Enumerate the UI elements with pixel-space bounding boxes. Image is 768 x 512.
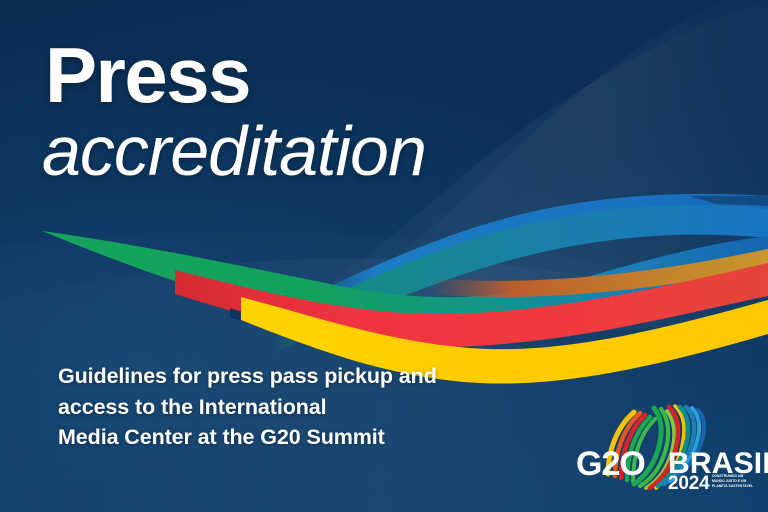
logo-motto-line-3: PLANETA SUSTENTÁVEL — [712, 484, 753, 489]
logo-motto: CONSTRUINDO UM MUNDO JUSTO E UM PLANETA … — [712, 474, 753, 489]
g20-brasil-logo: G2O BRASIL 2024 CONSTRUINDO UM MUNDO JUS… — [572, 396, 758, 502]
subtitle-line-2: access to the International — [58, 392, 437, 423]
press-accreditation-banner: Press accreditation Guidelines for press… — [0, 0, 768, 512]
subtitle-line-1: Guidelines for press pass pickup and — [58, 361, 437, 392]
page-title-press: Press — [45, 36, 250, 114]
logo-year-text: 2024 — [668, 473, 709, 495]
subtitle: Guidelines for press pass pickup and acc… — [58, 361, 437, 453]
page-title-accreditation: accreditation — [42, 116, 426, 186]
logo-g20-text: G2O — [576, 445, 645, 484]
subtitle-line-3: Media Center at the G20 Summit — [58, 422, 437, 453]
